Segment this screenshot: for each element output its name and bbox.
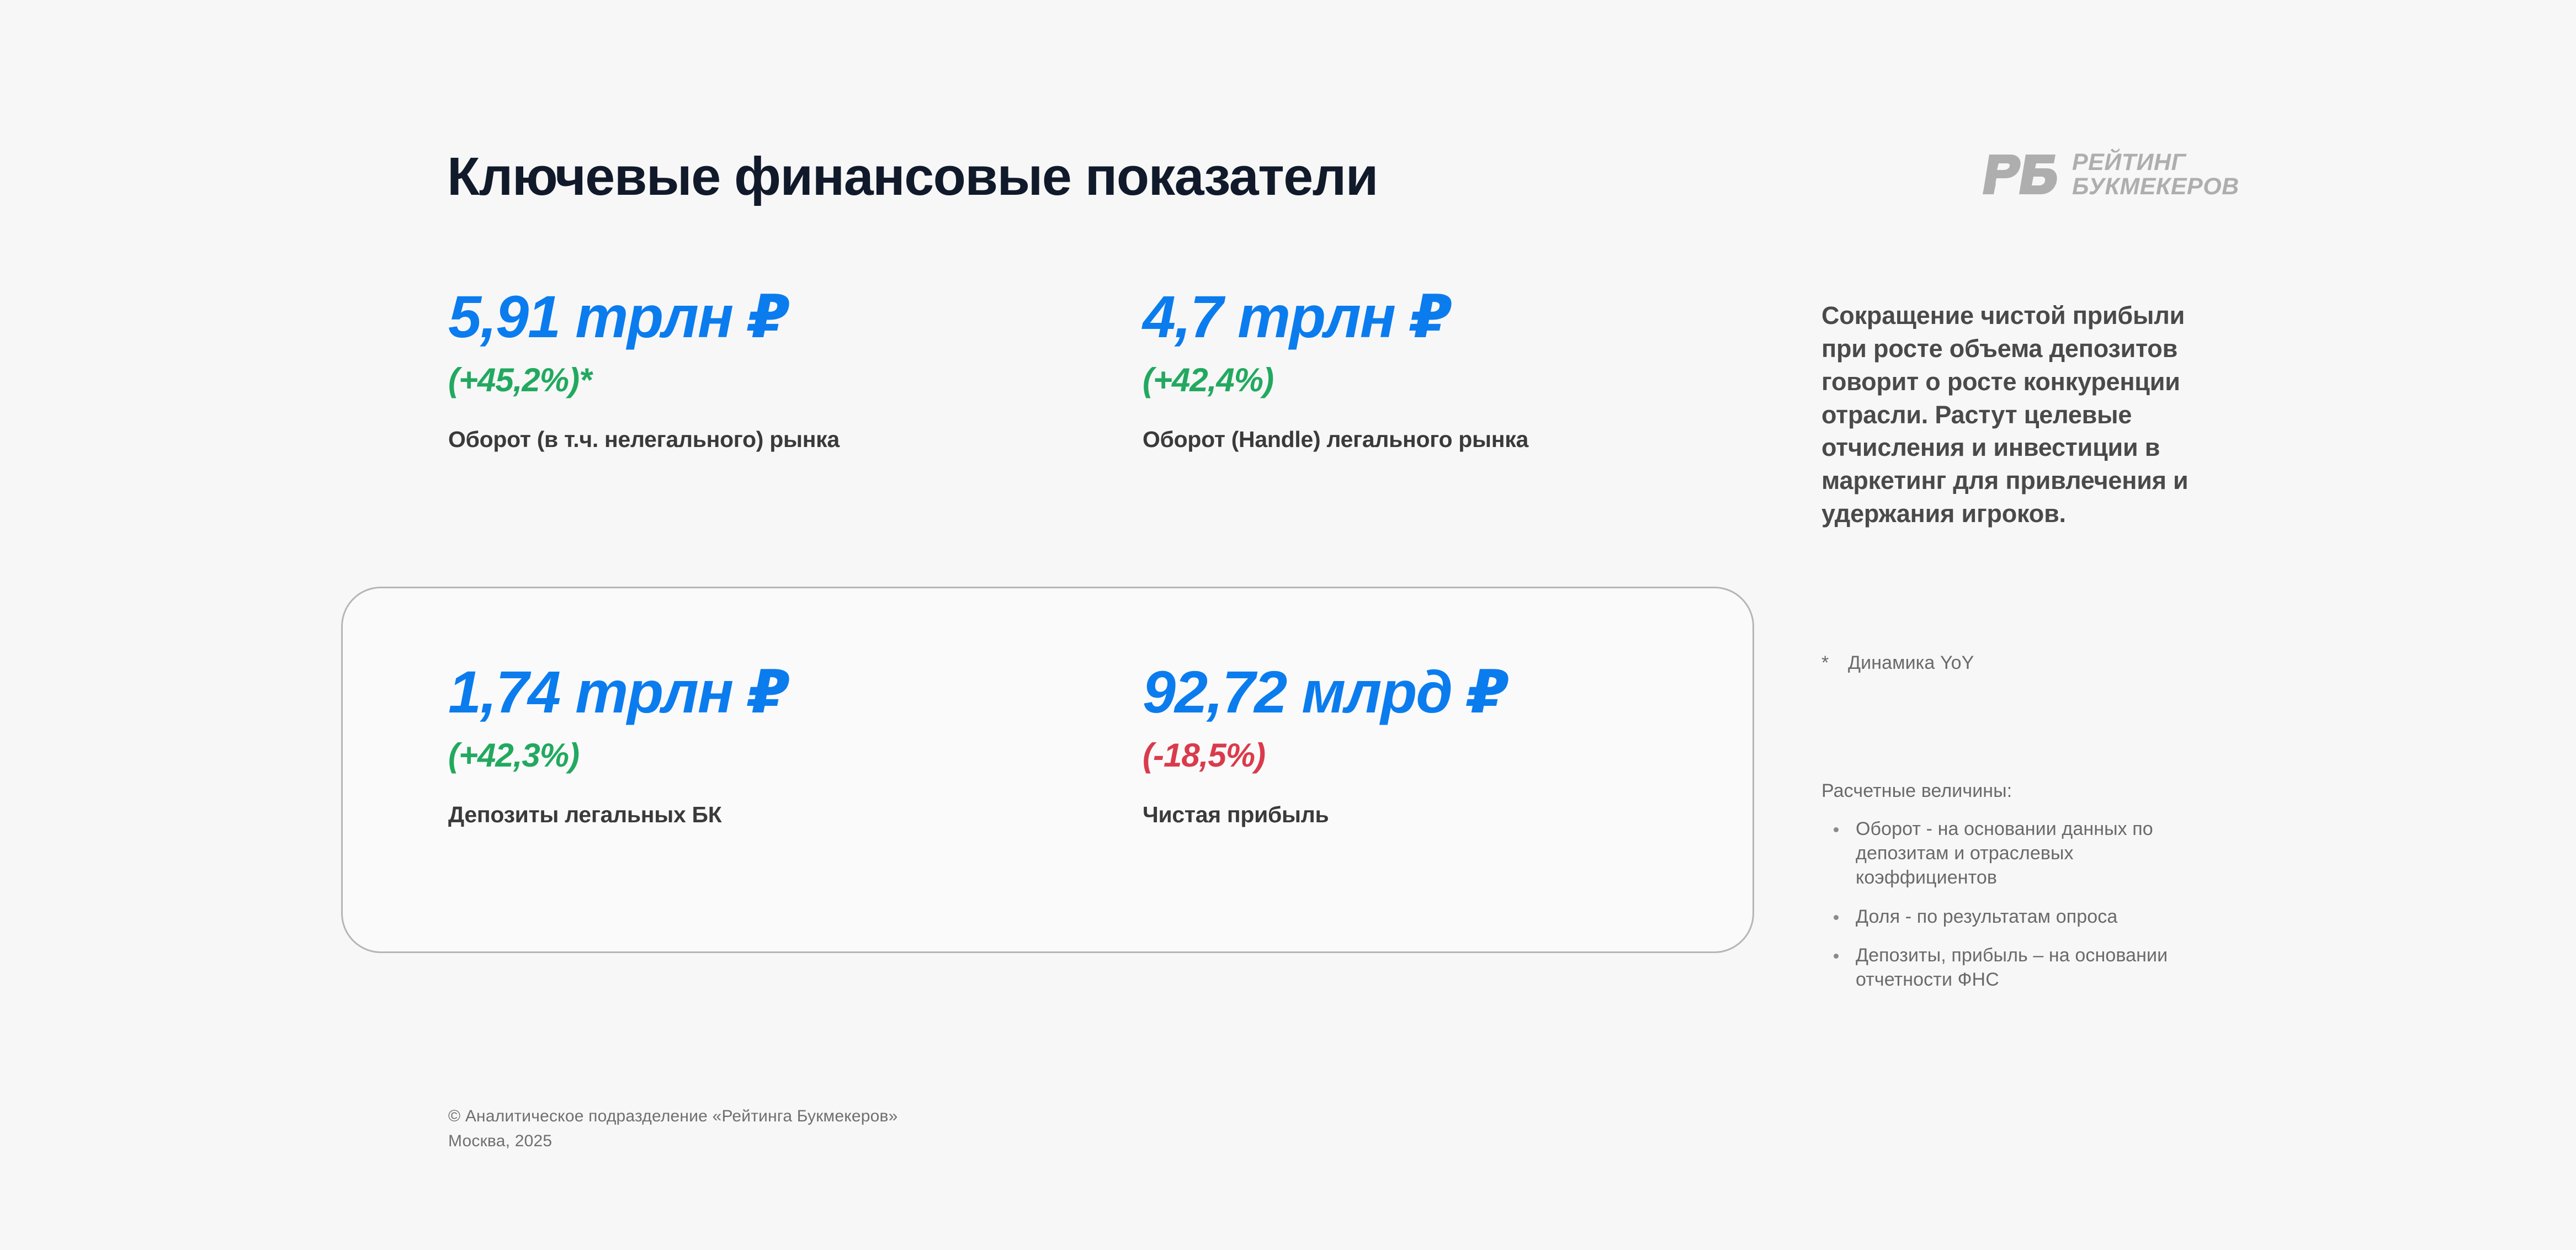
kpi-delta: (+42,3%) xyxy=(448,739,1133,772)
logo-line-1: РЕЙТИНГ xyxy=(2072,150,2239,174)
summary-text: Сокращение чистой прибыли при росте объе… xyxy=(1821,299,2208,530)
footnote: * Динамика YoY xyxy=(1821,652,1974,674)
list-item: Доля - по результатам опроса xyxy=(1821,905,2208,929)
kpi-label: Оборот (в т.ч. нелегального) рынка xyxy=(448,428,1133,451)
kpi-value: 1,74 трлн ₽ xyxy=(448,662,1133,722)
notes-title: Расчетные величины: xyxy=(1821,780,2208,802)
kpi-delta: (+45,2%)* xyxy=(448,364,1133,397)
kpi-label: Оборот (Handle) легального рынка xyxy=(1143,428,1827,451)
notes-list: Оборот - на основании данных по депозита… xyxy=(1821,817,2208,992)
kpi-block-deposits: 1,74 трлн ₽ (+42,3%) Депозиты легальных … xyxy=(448,662,1133,826)
list-item: Оборот - на основании данных по депозита… xyxy=(1821,817,2208,890)
list-item: Депозиты, прибыль – на основании отчетно… xyxy=(1821,944,2208,992)
kpi-label: Депозиты легальных БК xyxy=(448,804,1133,826)
footer-line-1: © Аналитическое подразделение «Рейтинга … xyxy=(448,1104,898,1129)
footer-copyright: © Аналитическое подразделение «Рейтинга … xyxy=(448,1104,898,1153)
page-title: Ключевые финансовые показатели xyxy=(447,146,1378,208)
slide-root: Ключевые финансовые показатели РЕЙТИНГ Б… xyxy=(0,0,2576,1250)
logo-line-2: БУКМЕКЕРОВ xyxy=(2072,174,2239,199)
kpi-value: 4,7 трлн ₽ xyxy=(1143,287,1827,347)
kpi-value: 92,72 млрд ₽ xyxy=(1143,662,1827,722)
footnote-marker: * xyxy=(1821,652,1834,674)
logo-wordmark: РЕЙТИНГ БУКМЕКЕРОВ xyxy=(2072,150,2239,199)
kpi-label: Чистая прибыль xyxy=(1143,804,1827,826)
footnote-text: Динамика YoY xyxy=(1848,652,1974,674)
rb-monogram-icon xyxy=(1982,151,2058,198)
brand-logo: РЕЙТИНГ БУКМЕКЕРОВ xyxy=(1982,150,2239,199)
kpi-block-net-profit: 92,72 млрд ₽ (-18,5%) Чистая прибыль xyxy=(1143,662,1827,826)
kpi-delta: (+42,4%) xyxy=(1143,364,1827,397)
kpi-value: 5,91 трлн ₽ xyxy=(448,287,1133,347)
kpi-delta: (-18,5%) xyxy=(1143,739,1827,772)
kpi-block-turnover-legal: 4,7 трлн ₽ (+42,4%) Оборот (Handle) лега… xyxy=(1143,287,1827,451)
kpi-block-turnover-total: 5,91 трлн ₽ (+45,2%)* Оборот (в т.ч. нел… xyxy=(448,287,1133,451)
footer-line-2: Москва, 2025 xyxy=(448,1129,898,1153)
methodology-notes: Расчетные величины: Оборот - на основани… xyxy=(1821,780,2208,992)
